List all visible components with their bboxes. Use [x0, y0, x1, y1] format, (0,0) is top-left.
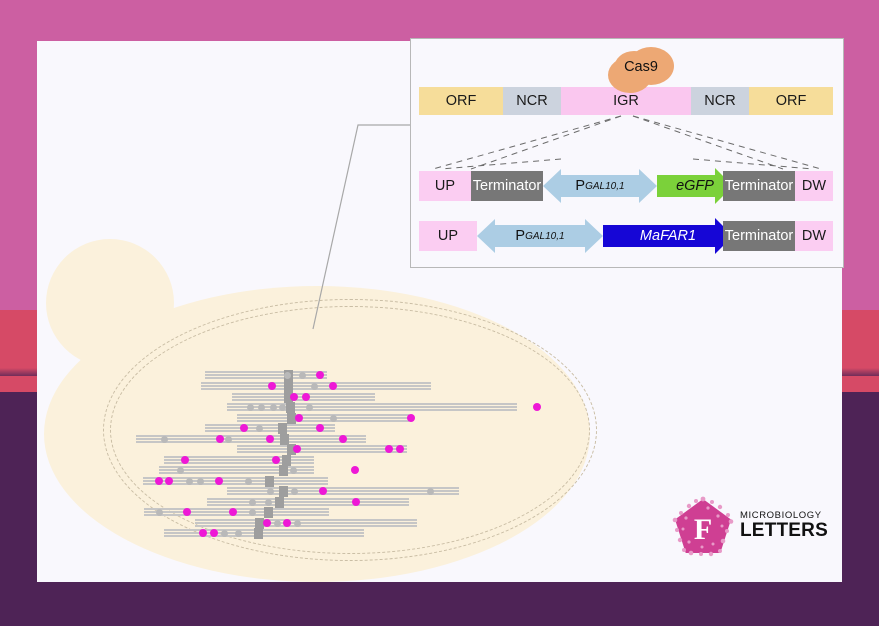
chromosome [232, 393, 375, 402]
secondary-locus-marker [427, 488, 434, 495]
figure-card: F MICROBIOLOGY LETTERS Cas9 [37, 41, 842, 582]
integration-site-marker [329, 382, 337, 390]
chromosome-strand [227, 490, 459, 492]
chromosome [227, 487, 459, 496]
integration-site-marker [210, 529, 218, 537]
chromosome-strand [195, 519, 417, 521]
chromosome [205, 424, 335, 433]
chromosome-strand [205, 430, 335, 432]
cas9-protein: Cas9 [608, 47, 674, 93]
secondary-locus-marker [156, 509, 163, 516]
construct-part-up: UP [419, 171, 471, 201]
centromere [254, 528, 263, 539]
chromosome [136, 435, 366, 444]
construct-arrow-promoter: PGAL10,1 [477, 221, 603, 251]
integration-site-marker [181, 456, 189, 464]
chromosome-strand [136, 441, 366, 443]
construct-part-dw: DW [795, 171, 833, 201]
integration-site-marker [263, 519, 271, 527]
chromosome-strand [205, 374, 327, 376]
centromere [275, 497, 284, 508]
integration-site-marker [216, 435, 224, 443]
chromosome [164, 456, 314, 465]
chromosome-strand [207, 498, 409, 500]
secondary-locus-marker [161, 436, 168, 443]
fems-pentagon-icon: F [672, 496, 734, 558]
chromosome-strand [164, 532, 364, 534]
cas9-label: Cas9 [608, 59, 674, 75]
integration-site-marker [385, 445, 393, 453]
centromere [286, 402, 295, 413]
construct-part-dw: DW [795, 221, 833, 251]
centromere [279, 486, 288, 497]
chromosome [195, 519, 417, 528]
logo-wordmark: MICROBIOLOGY LETTERS [740, 510, 828, 542]
integration-site-marker [290, 393, 298, 401]
chromosome [205, 371, 327, 380]
integration-site-marker [352, 498, 360, 506]
chromosome-strand [136, 435, 366, 437]
chromosome [237, 445, 407, 454]
chromosome-strand [207, 504, 409, 506]
integration-site-marker [183, 508, 191, 516]
locus-segment-orf-4: ORF [749, 87, 833, 115]
centromere [278, 423, 287, 434]
centromere [279, 465, 288, 476]
chromosome [144, 508, 329, 517]
construct-part-terminator: Terminator [471, 171, 543, 201]
secondary-locus-marker [197, 478, 204, 485]
centromere [264, 507, 273, 518]
secondary-locus-marker [256, 425, 263, 432]
chromosome-strand [164, 535, 364, 537]
secondary-locus-marker [291, 488, 298, 495]
secondary-locus-marker [294, 520, 301, 527]
secondary-locus-marker [290, 467, 297, 474]
chromosome [237, 414, 409, 423]
integration-site-marker [316, 371, 324, 379]
secondary-locus-marker [235, 530, 242, 537]
chromosome-strand [207, 501, 409, 503]
construct-arrow-promoter: PGAL10,1 [543, 171, 657, 201]
chromosome-strand [237, 445, 407, 447]
integration-site-marker [268, 382, 276, 390]
integration-site-marker [351, 466, 359, 474]
secondary-locus-marker [274, 520, 281, 527]
chromosome [143, 477, 328, 486]
chromosome-strand [227, 493, 459, 495]
centromere [265, 476, 274, 487]
secondary-locus-marker [330, 415, 337, 422]
secondary-locus-marker [267, 488, 274, 495]
secondary-locus-marker [299, 372, 306, 379]
chromosome-strand [164, 529, 364, 531]
secondary-locus-marker [306, 404, 313, 411]
integration-site-marker [533, 403, 541, 411]
chromosome-strand [136, 438, 366, 440]
chromosome-strand [205, 371, 327, 373]
chromosome-strand [205, 377, 327, 379]
integration-site-marker [155, 477, 163, 485]
chromosome-strand [237, 417, 409, 419]
integration-site-marker [339, 435, 347, 443]
logo-line2: LETTERS [740, 520, 828, 542]
secondary-locus-marker [177, 467, 184, 474]
integration-site-marker [407, 414, 415, 422]
egfp-cassette: UPTerminatorPGAL10,1eGFPTerminatorDW [419, 171, 833, 201]
secondary-locus-marker [249, 499, 256, 506]
secondary-locus-marker [247, 404, 254, 411]
secondary-locus-marker [311, 383, 318, 390]
crispr-construct-panel: Cas9 ORFNCRIGRNCRORF UPTerminatorPGAL10,… [410, 38, 844, 268]
secondary-locus-marker [258, 404, 265, 411]
secondary-locus-marker [279, 404, 286, 411]
chromosome-strand [195, 522, 417, 524]
chromosome-strand [144, 514, 329, 516]
secondary-locus-marker [265, 499, 272, 506]
svg-text:F: F [694, 513, 712, 546]
chromosome [201, 382, 431, 391]
construct-arrow-mafar1: MaFAR1 [603, 221, 733, 251]
secondary-locus-marker [270, 404, 277, 411]
integration-site-marker [165, 477, 173, 485]
integration-site-marker [396, 445, 404, 453]
secondary-locus-marker [221, 530, 228, 537]
integration-site-marker [319, 487, 327, 495]
secondary-locus-marker [186, 478, 193, 485]
fems-microbiology-letters-logo: F MICROBIOLOGY LETTERS [672, 496, 812, 558]
integration-site-marker [229, 508, 237, 516]
construct-part-terminator: Terminator [723, 171, 795, 201]
integration-site-marker [295, 414, 303, 422]
locus-segment-orf-0: ORF [419, 87, 503, 115]
integration-site-marker [283, 519, 291, 527]
integration-site-marker [266, 435, 274, 443]
chromosome [207, 498, 409, 507]
chromosome-strand [237, 414, 409, 416]
locus-segment-ncr-1: NCR [503, 87, 561, 115]
integration-site-marker [316, 424, 324, 432]
secondary-locus-marker [249, 509, 256, 516]
integration-site-marker [199, 529, 207, 537]
secondary-locus-marker [245, 478, 252, 485]
secondary-locus-marker [284, 372, 291, 379]
construct-part-up: UP [419, 221, 477, 251]
chromosome [227, 403, 517, 412]
integration-site-marker [272, 456, 280, 464]
chromosome [159, 466, 314, 475]
centromere [284, 381, 293, 392]
construct-arrow-egfp: eGFP [657, 171, 733, 201]
chromosome-strand [237, 420, 409, 422]
secondary-locus-marker [225, 436, 232, 443]
chromosome [164, 529, 364, 538]
integration-site-marker [293, 445, 301, 453]
chromosome-strand [237, 451, 407, 453]
integration-site-marker [240, 424, 248, 432]
construct-part-terminator: Terminator [723, 221, 795, 251]
locus-segment-ncr-3: NCR [691, 87, 749, 115]
integration-site-marker [302, 393, 310, 401]
chromosome-strand [237, 448, 407, 450]
integration-site-marker [215, 477, 223, 485]
chromosome-strand [195, 525, 417, 527]
chromosome-strand [227, 487, 459, 489]
mafar1-cassette: UPPGAL10,1MaFAR1TerminatorDW [419, 221, 833, 251]
